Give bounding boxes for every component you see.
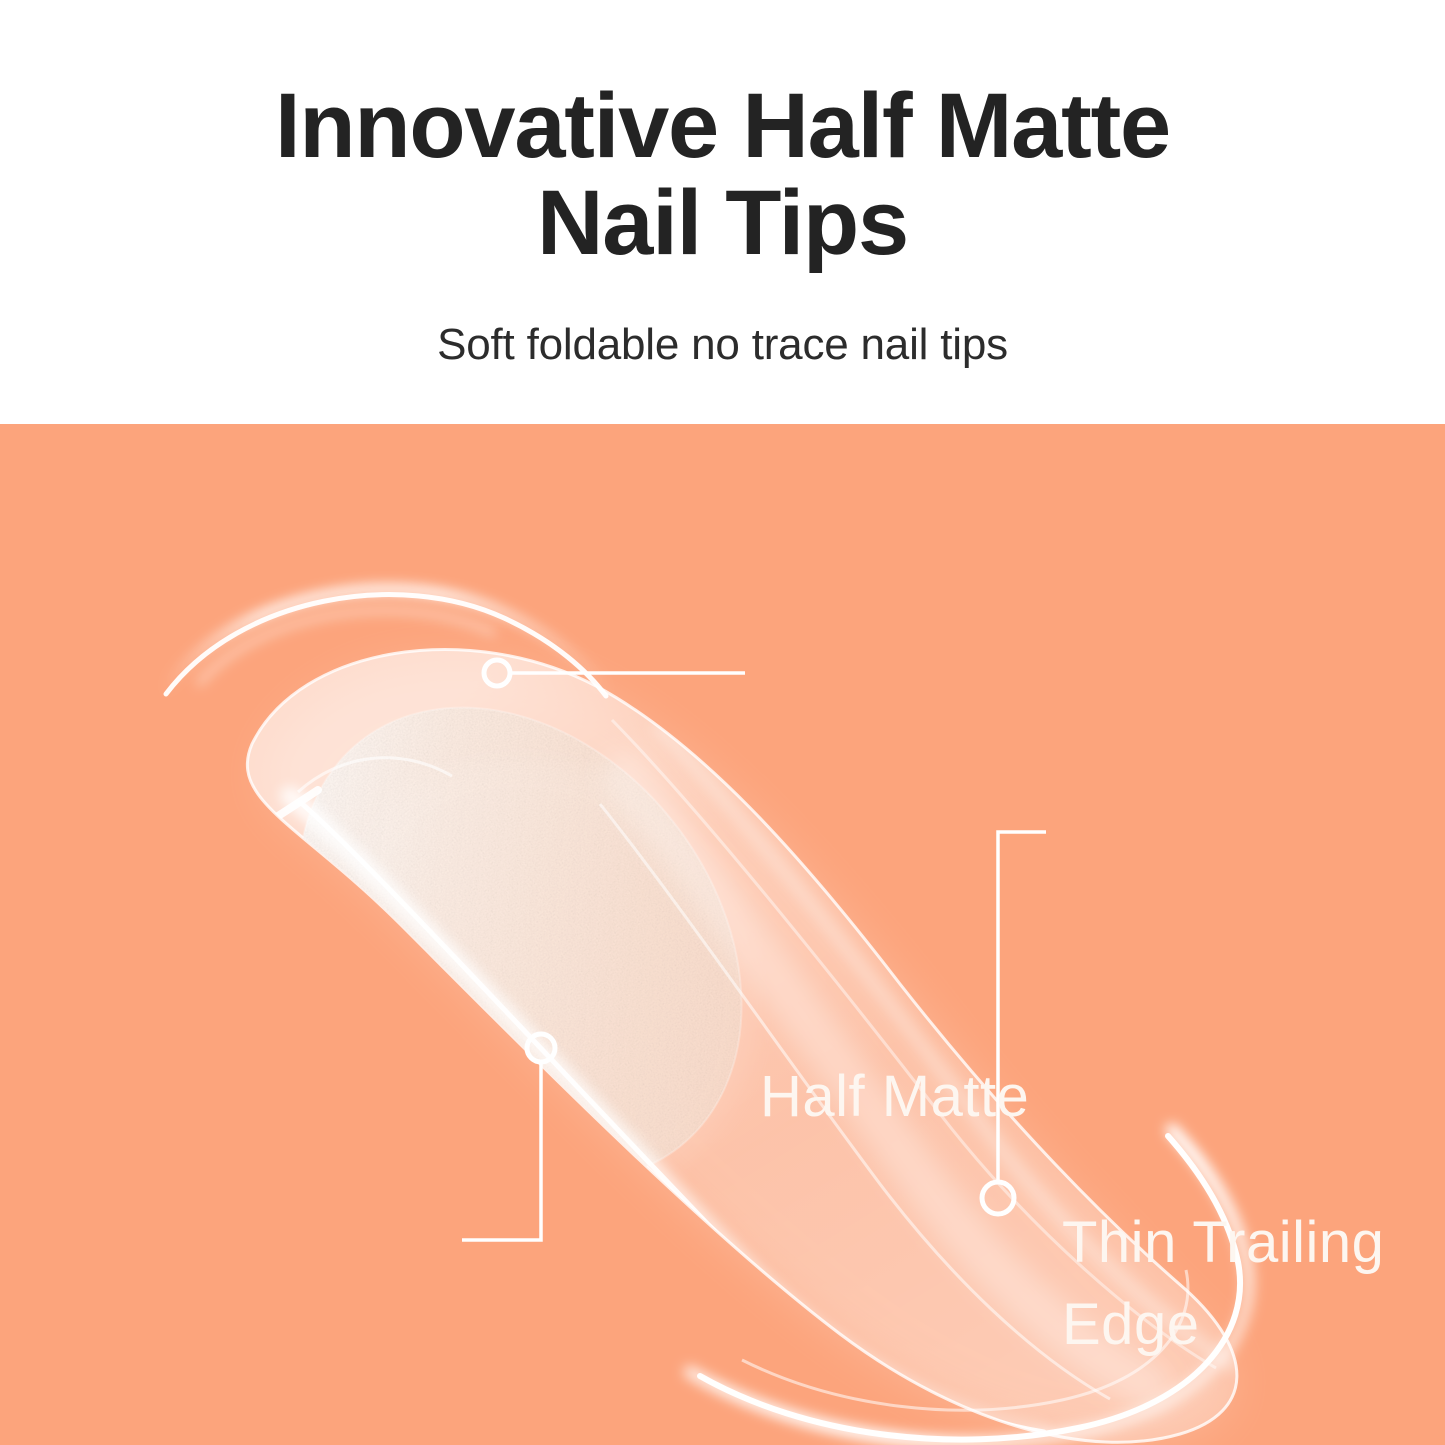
page-subtitle: Soft foldable no trace nail tips [0,318,1445,372]
callout-no-crease-leader [462,1034,555,1240]
header-section: Innovative Half Matte Nail Tips Soft fol… [0,0,1445,424]
page-title: Innovative Half Matte Nail Tips [0,78,1445,272]
callout-label-half-matte: Half Matte [760,1064,1029,1130]
product-showcase-panel: Half Matte Thin Trailing Edge No Crease [0,424,1445,1445]
callout-label-thin-trailing-edge: Thin Trailing Edge [1062,1202,1384,1366]
product-infographic: Innovative Half Matte Nail Tips Soft fol… [0,0,1445,1445]
